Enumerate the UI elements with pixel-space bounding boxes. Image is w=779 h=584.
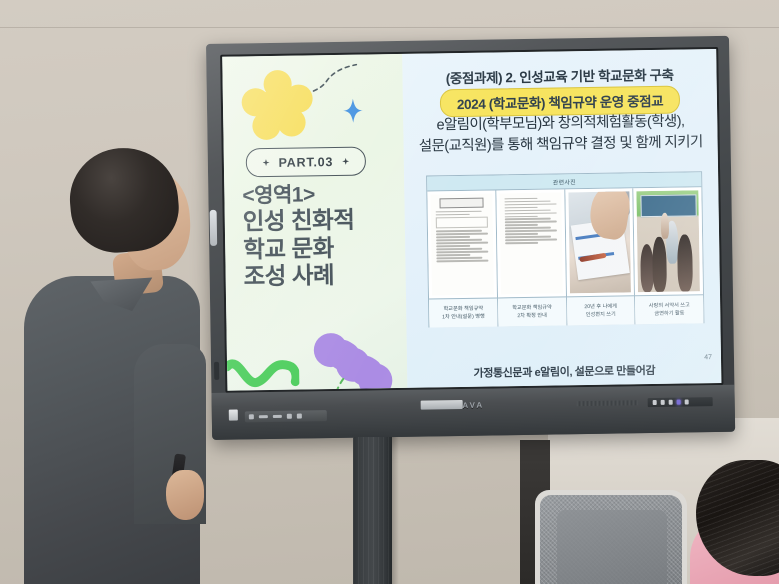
slide-body-text: e알림이(학부모님)와 창의적체험활동(학생), 설문(교직원)를 통해 책임규… bbox=[407, 111, 713, 158]
wall-seam bbox=[0, 27, 779, 28]
part-label-text: PART.03 bbox=[278, 155, 333, 170]
table-cell: 20년 후 나에게 인성편지 쓰기 bbox=[565, 188, 636, 325]
caption-line-2: 금연하기 활동 bbox=[654, 310, 684, 319]
title-line-1: <영역1> bbox=[242, 182, 408, 209]
body-line-2: 설문(교직원)를 통해 책임규약 결정 및 함께 지키기 bbox=[408, 132, 714, 158]
title-line-2: 인성 친화적 bbox=[243, 206, 408, 236]
cell-caption: 학교문화 책임규약 1차 안내(설문) 병행 bbox=[429, 297, 497, 327]
document-thumbnail bbox=[499, 192, 562, 294]
cell-media-document bbox=[499, 192, 562, 294]
table-cell: 학교문화 책임규약 2차 확정 안내 bbox=[496, 189, 567, 326]
presenter-person bbox=[18, 148, 208, 584]
table-cell: 사랑의 서약서 쓰고 금연하기 활동 bbox=[634, 187, 704, 324]
caption-line-2: 1차 안내(설문) 병행 bbox=[442, 313, 485, 322]
control-button[interactable] bbox=[287, 414, 292, 419]
doc-stamp bbox=[440, 198, 484, 209]
side-port-tab bbox=[210, 210, 218, 246]
status-led-panel bbox=[648, 397, 713, 407]
cell-caption: 학교문화 책임규약 2차 확정 안내 bbox=[498, 296, 566, 326]
cell-media-photo bbox=[637, 190, 700, 292]
chair-lumbar-panel bbox=[557, 510, 667, 584]
table-cell: 학교문화 책임규약 1차 안내(설문) 병행 bbox=[428, 190, 499, 327]
control-button[interactable] bbox=[273, 415, 282, 418]
cell-caption: 사랑의 서약서 쓰고 금연하기 활동 bbox=[635, 294, 703, 324]
slide-heading: (중점과제) 2. 인성교육 기반 학교문화 구축 bbox=[403, 63, 717, 88]
title-line-4: 조성 사례 bbox=[243, 261, 407, 291]
mesh-office-chair bbox=[535, 490, 687, 584]
status-led bbox=[669, 400, 673, 405]
slide-left-panel: PART.03 <영역1> 인성 친화적 학교 문화 조성 사례 bbox=[222, 54, 408, 391]
display-inner-frame: PART.03 <영역1> 인성 친화적 학교 문화 조성 사례 bbox=[220, 47, 723, 393]
sparkle-right-icon bbox=[342, 158, 349, 165]
slide-footnote: 가정통신문과 e알림이, 설문으로 만들어감 bbox=[407, 361, 721, 382]
table-body: 학교문화 책임규약 1차 안내(설문) 병행 bbox=[428, 187, 704, 327]
slide-right-panel: (중점과제) 2. 인성교육 기반 학교문화 구축 2024 (학교문화) 책임… bbox=[402, 49, 721, 388]
power-led bbox=[677, 400, 681, 405]
cell-media-document bbox=[431, 194, 494, 296]
document-thumbnail bbox=[431, 194, 494, 296]
status-led bbox=[653, 400, 657, 405]
cell-media-photo bbox=[568, 191, 631, 293]
related-photos-table: 관련사진 bbox=[426, 171, 704, 327]
slide-left-title: <영역1> 인성 친화적 학교 문화 조성 사례 bbox=[242, 182, 408, 291]
flower-blob-icon bbox=[240, 67, 315, 142]
speaker-grille bbox=[577, 400, 639, 406]
ir-sensor-strip bbox=[421, 400, 463, 410]
stand-shadow bbox=[392, 437, 399, 584]
control-button[interactable] bbox=[249, 414, 254, 419]
display-screen[interactable]: PART.03 <영역1> 인성 친화적 학교 문화 조성 사례 bbox=[222, 49, 721, 391]
sparkle-icon bbox=[343, 99, 363, 123]
caption-line-2: 2차 확정 안내 bbox=[517, 312, 547, 321]
presentation-slide: PART.03 <영역1> 인성 친화적 학교 문화 조성 사례 bbox=[222, 49, 721, 391]
dashed-curve-bottom-icon bbox=[325, 375, 407, 390]
status-led bbox=[685, 399, 689, 404]
brand-logo: AVA bbox=[462, 401, 484, 410]
control-button[interactable] bbox=[259, 415, 268, 418]
display-floor-stand bbox=[353, 437, 392, 584]
display-bottom-bar: AVA bbox=[211, 385, 735, 440]
photo-writing-activity bbox=[568, 191, 631, 293]
sparkle-left-icon bbox=[262, 159, 269, 166]
side-notch bbox=[214, 362, 219, 380]
caption-line-2: 인성편지 쓰기 bbox=[586, 311, 616, 320]
photo-classroom-activity bbox=[637, 190, 700, 292]
green-squiggle-icon bbox=[223, 352, 300, 391]
seated-attendee bbox=[690, 470, 779, 584]
interactive-flat-panel-display[interactable]: PART.03 <영역1> 인성 친화적 학교 문화 조성 사례 bbox=[206, 36, 735, 440]
part-label-pill: PART.03 bbox=[246, 147, 366, 178]
power-badge[interactable] bbox=[229, 410, 238, 421]
presenter-hand bbox=[166, 470, 204, 520]
status-led bbox=[661, 400, 665, 405]
cell-caption: 20년 후 나에게 인성편지 쓰기 bbox=[567, 295, 635, 325]
display-control-strip[interactable] bbox=[245, 410, 327, 422]
control-button[interactable] bbox=[297, 414, 302, 419]
title-line-3: 학교 문화 bbox=[243, 233, 408, 263]
